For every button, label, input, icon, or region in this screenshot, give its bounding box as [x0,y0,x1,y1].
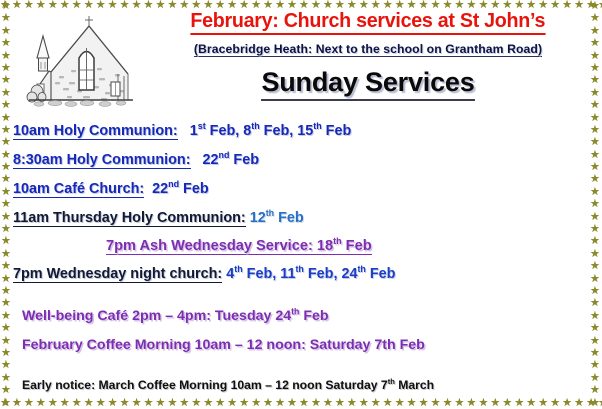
poster-root: ★★★★★★★★★★★★★★★★★★★★★★★★★★★★★★★★★★★★★★★★… [0,0,602,409]
service-label: 8:30am Holy Communion: [13,152,191,169]
service-row-7pm-wednesday-night-church: 7pm Wednesday night church:4th Feb, 11th… [13,261,589,287]
service-row-11am-thursday-holy-communion: 11am Thursday Holy Communion:12th Feb [13,205,589,231]
service-row-10am-cafe-church: 10am Café Church:22nd Feb [13,176,589,202]
service-label: 10am Holy Communion: [13,123,178,140]
poster-content: February: Church services at St John’s (… [13,12,589,397]
event-text: February Coffee Morning 10am – 12 noon: … [22,337,425,353]
service-label: 7pm Wednesday night church: [13,266,222,283]
early-notice-row: Early notice: March Coffee Morning 10am … [13,372,589,398]
service-label: 10am Café Church: [13,181,144,198]
star-border-bottom: ★★★★★★★★★★★★★★★★★★★★★★★★★★★★★★★★★★★★★★★★… [0,398,602,409]
star-border-left: ★★★★★★★★★★★★★★★★★★★★★★★★★★★★★★★★★ [1,0,12,409]
service-row-830am-holy-communion: 8:30am Holy Communion:22nd Feb [13,147,589,173]
service-row-ash-wednesday: 7pm Ash Wednesday Service:18th Feb [13,233,589,259]
sunday-services-heading: Sunday Services [261,68,474,101]
poster-main-title: February: Church services at St John’s [191,10,546,35]
service-full-text: 7pm Ash Wednesday Service:18th Feb [106,238,372,255]
service-dates: 1st Feb, 8th Feb, 15th Feb [190,123,352,139]
service-dates: 22nd Feb [203,152,260,168]
poster-header: February: Church services at St John’s (… [13,12,589,114]
poster-sub-title: (Bracebridge Heath: Next to the school o… [194,42,542,57]
service-label: 11am Thursday Holy Communion: [13,210,246,227]
service-dates: 22nd Feb [152,181,209,197]
service-dates: 4th Feb, 11th Feb, 24th Feb [226,266,395,282]
title-block: February: Church services at St John’s (… [147,10,589,101]
early-notice-text: Early notice: March Coffee Morning 10am … [22,378,434,392]
event-row-wellbeing-cafe: Well-being Café 2pm – 4pm: Tuesday 24th … [13,303,589,329]
event-text: Well-being Café 2pm – 4pm: Tuesday 24th … [22,308,329,324]
services-list: 10am Holy Communion:1st Feb, 8th Feb, 15… [13,118,589,398]
service-dates: 12th Feb [250,210,304,226]
event-row-february-coffee-morning: February Coffee Morning 10am – 12 noon: … [13,332,589,358]
st-johns-church-image [15,12,147,112]
service-row-10am-holy-communion: 10am Holy Communion:1st Feb, 8th Feb, 15… [13,118,589,144]
star-border-right: ★★★★★★★★★★★★★★★★★★★★★★★★★★★★★★★★★ [590,0,601,409]
